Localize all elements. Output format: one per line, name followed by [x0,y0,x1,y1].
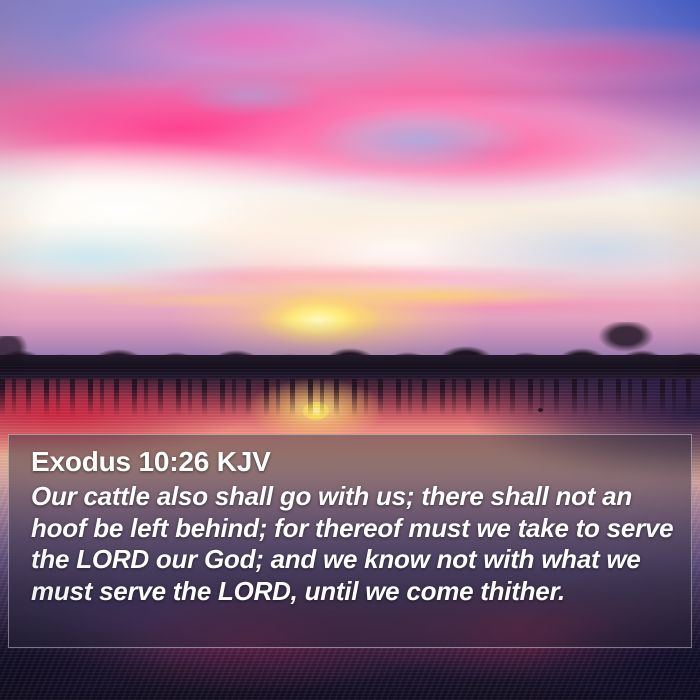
verse-reference: Exodus 10:26 KJV [31,445,675,479]
bare-tree-right-icon [598,322,656,364]
horizon-treeline [0,334,700,370]
verse-text: Our cattle also shall go with us; there … [31,481,675,607]
verse-image-canvas: Exodus 10:26 KJV Our cattle also shall g… [0,0,700,700]
verse-overlay-panel: Exodus 10:26 KJV Our cattle also shall g… [8,434,692,648]
horizon-violet-haze [0,0,700,372]
